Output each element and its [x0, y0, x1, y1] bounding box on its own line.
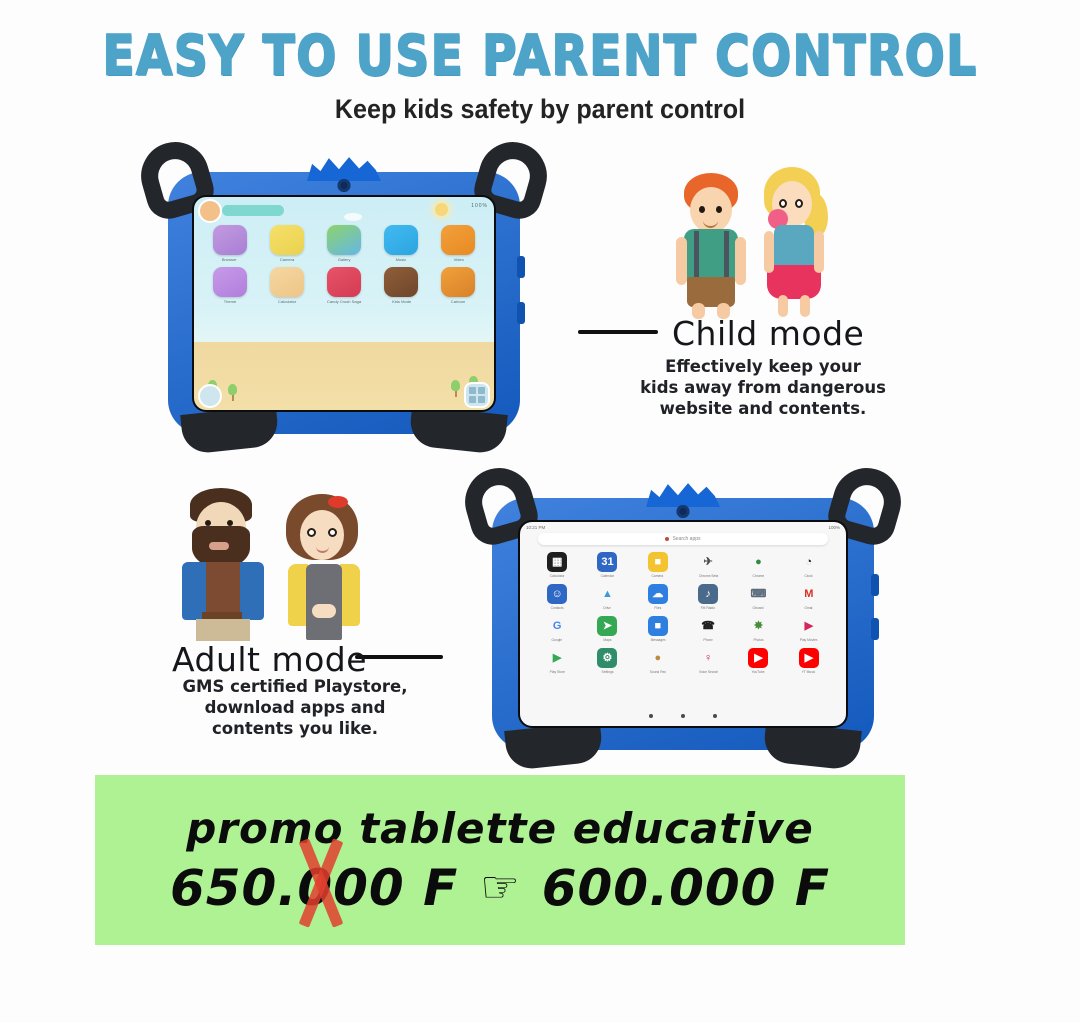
child-mode-desc-line3: website and contents. [608, 398, 918, 419]
android-app-icon: ● [648, 648, 668, 668]
android-app-item[interactable]: ⚙Settings [582, 648, 632, 674]
status-battery: 100% [828, 525, 840, 530]
girl-eye-right [795, 199, 803, 208]
woman-hair-bow [328, 496, 348, 508]
android-app-icon: ☺ [547, 584, 567, 604]
android-app-item[interactable]: ●Chrome [733, 552, 783, 578]
android-app-icon: ◔ [799, 552, 819, 572]
android-app-icon: ■ [648, 552, 668, 572]
handle-foot-left-kids [180, 405, 280, 455]
android-app-icon: ▶ [799, 616, 819, 636]
handle-foot-right-kids [408, 405, 508, 455]
android-app-label: Messages [650, 638, 665, 642]
dino-spikes-kids [302, 155, 386, 181]
kids-app-item[interactable]: Video [432, 225, 485, 262]
android-app-label: Chrome Beta [698, 574, 717, 578]
android-app-icon: ■ [648, 616, 668, 636]
android-app-item[interactable]: ●Sound Rec [633, 648, 683, 674]
android-app-item[interactable]: ▦Calculator [532, 552, 582, 578]
man-mouth [209, 542, 229, 550]
adults-illustration [174, 482, 374, 637]
android-app-item[interactable]: ■Messages [633, 616, 683, 642]
kids-app-icon [384, 267, 418, 297]
android-app-label: Contacts [551, 606, 564, 610]
kids-app-icon [327, 225, 361, 255]
kids-app-label: Video [453, 257, 463, 262]
kids-app-icon [441, 225, 475, 255]
child-mode-connector-line [578, 330, 658, 334]
android-app-label: Files [654, 606, 661, 610]
woman-hands [312, 604, 336, 618]
man-pants [196, 619, 250, 641]
android-app-icon: 31 [597, 552, 617, 572]
new-price: 600.000 F [542, 859, 830, 917]
android-app-icon: ☎ [698, 616, 718, 636]
boy-shirt [684, 229, 738, 281]
kids-app-item[interactable]: Gallery [317, 225, 370, 262]
android-app-label: Google [552, 638, 563, 642]
android-app-item[interactable]: GGoogle [532, 616, 582, 642]
boy-figure [672, 173, 750, 318]
android-app-icon: ✸ [748, 616, 768, 636]
promo-price-row: 650.000 F ☞ 600.000 F [170, 859, 830, 917]
android-app-item[interactable]: ♪FM Radio [683, 584, 733, 610]
kids-tablet: 100% BrowserCameraGalleryMusicVideoTheme… [168, 172, 520, 434]
android-app-icon: ▲ [597, 584, 617, 604]
android-app-label: Chrome [753, 574, 765, 578]
kids-app-label: Camera [280, 257, 294, 262]
android-app-label: Play Store [550, 670, 565, 674]
android-drawer-screen[interactable]: 10:21 PM 100% Search apps ▦Calculator31C… [520, 522, 846, 726]
kids-app-icon [213, 267, 247, 297]
all-apps-button-kids[interactable] [466, 384, 488, 406]
kids-app-item[interactable]: Music [375, 225, 428, 262]
android-app-icon: ⌨ [748, 584, 768, 604]
child-mode-description: Effectively keep your kids away from dan… [608, 356, 918, 419]
android-app-icon: ♪ [698, 584, 718, 604]
android-app-item[interactable]: MGmail [784, 584, 834, 610]
advertisement-page: EASY TO USE PARENT CONTROL Keep kids saf… [0, 0, 1080, 1023]
woman-figure [276, 494, 372, 640]
android-app-item[interactable]: ▶YouTube [733, 648, 783, 674]
kids-app-icon [441, 267, 475, 297]
android-app-label: Calendar [601, 574, 614, 578]
cloud-decoration [344, 213, 362, 221]
android-app-icon: G [547, 616, 567, 636]
man-tshirt [202, 562, 242, 614]
kids-app-item[interactable]: Candy Crush Saga [317, 267, 370, 304]
adult-mode-title: Adult mode [172, 640, 367, 679]
android-app-item[interactable]: ▶Play Store [532, 648, 582, 674]
android-app-label: FM Radio [701, 606, 715, 610]
child-mode-desc-line2: kids away from dangerous [608, 377, 918, 398]
android-app-label: Camera [652, 574, 664, 578]
girl-arm-left [764, 231, 774, 273]
android-app-item[interactable]: ✸Photos [733, 616, 783, 642]
kids-app-label: Cartoon [451, 299, 465, 304]
kids-app-label: Music [396, 257, 407, 262]
android-app-item[interactable]: ☁Files [633, 584, 683, 610]
kids-app-item[interactable]: Cartoon [432, 267, 485, 304]
promo-headline: promo tablette educative [186, 804, 814, 853]
kids-app-item[interactable]: Kids Mode [375, 267, 428, 304]
woman-apron [306, 564, 342, 640]
boy-suspender-left [694, 231, 699, 281]
woman-cardigan-right [340, 564, 360, 626]
android-app-icon: ▶ [748, 648, 768, 668]
boy-shorts [687, 277, 735, 307]
kids-app-icon [213, 225, 247, 255]
android-app-label: YouTube [752, 670, 765, 674]
android-app-item[interactable]: 31Calendar [582, 552, 632, 578]
kids-app-label: Candy Crush Saga [327, 299, 361, 304]
page-subtitle: Keep kids safety by parent control [38, 94, 1042, 125]
android-app-icon: ☁ [648, 584, 668, 604]
android-app-icon: ⚙ [597, 648, 617, 668]
adult-mode-connector-line [355, 655, 443, 659]
android-app-icon: ♀ [698, 648, 718, 668]
boy-eye-right [716, 206, 722, 213]
kids-app-item[interactable]: Browser [203, 225, 256, 262]
girl-eye-left [779, 199, 787, 208]
kids-launcher-screen[interactable]: 100% BrowserCameraGalleryMusicVideoTheme… [194, 197, 494, 410]
android-app-label: Gboard [753, 606, 764, 610]
android-app-item[interactable]: ▶YT Music [784, 648, 834, 674]
handle-foot-right-android [762, 721, 862, 771]
android-tablet: 10:21 PM 100% Search apps ▦Calculator31C… [492, 498, 874, 750]
android-app-label: YT Music [802, 670, 816, 674]
screen-bezel-android: 10:21 PM 100% Search apps ▦Calculator31C… [520, 522, 846, 726]
android-app-label: Calculator [550, 574, 565, 578]
android-app-label: Gmail [805, 606, 814, 610]
kids-app-item[interactable]: Camera [260, 225, 313, 262]
page-indicator[interactable] [520, 714, 846, 718]
kids-app-icon [270, 225, 304, 255]
side-button-upper-kids[interactable] [517, 256, 525, 278]
girl-figure [754, 165, 834, 317]
android-app-item[interactable]: ♀Voice Search [683, 648, 733, 674]
girl-skirt [767, 265, 821, 299]
android-app-label: Sound Rec [650, 670, 666, 674]
side-button-lower-kids[interactable] [517, 302, 525, 324]
search-bar-android[interactable]: Search apps [538, 533, 828, 545]
android-app-item[interactable]: ☺Contacts [532, 584, 582, 610]
android-app-icon: ✈ [698, 552, 718, 572]
boy-suspender-right [724, 231, 729, 281]
android-app-item[interactable]: ⌨Gboard [733, 584, 783, 610]
front-camera-android [677, 505, 690, 518]
boy-arm-left [676, 237, 687, 285]
old-price-text: 650.000 F [170, 859, 458, 917]
woman-cardigan-left [288, 564, 308, 626]
android-app-item[interactable]: ➤Maps [582, 616, 632, 642]
android-app-label: Phone [703, 638, 713, 642]
side-button-upper-android[interactable] [871, 574, 879, 596]
android-app-label: Drive [604, 606, 612, 610]
search-placeholder: Search apps [672, 536, 700, 542]
kids-app-label: Theme [223, 299, 236, 304]
kids-app-label: Browser [222, 257, 237, 262]
android-app-item[interactable]: ▶Play Movies [784, 616, 834, 642]
kids-app-icon [384, 225, 418, 255]
android-app-icon: ● [748, 552, 768, 572]
adult-mode-desc-line3: contents you like. [150, 718, 440, 739]
android-app-label: Settings [602, 670, 614, 674]
child-mode-title: Child mode [672, 314, 864, 353]
android-app-icon: ▦ [547, 552, 567, 572]
kids-app-label: Gallery [338, 257, 351, 262]
android-app-item[interactable]: ☎Phone [683, 616, 733, 642]
man-shirt-right [240, 562, 264, 620]
android-app-item[interactable]: ▲Drive [582, 584, 632, 610]
tree-decoration [451, 380, 460, 396]
adult-mode-desc-line2: download apps and [150, 697, 440, 718]
adult-mode-desc-line1: GMS certified Playstore, [150, 676, 440, 697]
handle-foot-left-android [504, 721, 604, 771]
android-app-item[interactable]: ■Camera [633, 552, 683, 578]
children-illustration [668, 163, 838, 318]
status-bar-kids: 100% [471, 203, 488, 209]
screen-bezel-kids: 100% BrowserCameraGalleryMusicVideoTheme… [194, 197, 494, 410]
woman-eye-left [307, 528, 316, 537]
child-mode-desc-line1: Effectively keep your [608, 356, 918, 377]
girl-arm-right [814, 231, 824, 273]
pointing-right-hand-icon: ☞ [480, 866, 519, 910]
dino-spikes-android [641, 481, 725, 507]
front-camera-kids [338, 179, 351, 192]
android-app-icon: ▶ [799, 648, 819, 668]
android-app-label: Play Movies [800, 638, 818, 642]
status-time: 10:21 PM [526, 525, 545, 530]
kids-app-label: Calculator [278, 299, 296, 304]
android-app-item[interactable]: ✈Chrome Beta [683, 552, 733, 578]
home-button-kids[interactable] [200, 386, 220, 406]
kid-name-pill [222, 205, 284, 216]
android-app-label: Photos [753, 638, 763, 642]
android-app-icon: M [799, 584, 819, 604]
android-app-icon: ➤ [597, 616, 617, 636]
boy-eye-left [699, 206, 705, 213]
android-app-item[interactable]: ◔Clock [784, 552, 834, 578]
tree-decoration [228, 384, 237, 400]
kids-app-item[interactable]: Calculator [260, 267, 313, 304]
kids-app-grid: BrowserCameraGalleryMusicVideoThemeCalcu… [203, 225, 485, 304]
android-app-grid: ▦Calculator31Calendar■Camera✈Chrome Beta… [532, 552, 834, 674]
old-price: 650.000 F [170, 859, 458, 917]
side-button-lower-android[interactable] [871, 618, 879, 640]
promo-banner: promo tablette educative 650.000 F ☞ 600… [95, 775, 905, 945]
kids-app-label: Kids Mode [392, 299, 411, 304]
android-app-label: Clock [805, 574, 813, 578]
android-app-label: Maps [603, 638, 611, 642]
boy-arm-right [735, 237, 746, 285]
kids-app-item[interactable]: Theme [203, 267, 256, 304]
android-app-label: Voice Search [698, 670, 717, 674]
search-icon [665, 537, 669, 541]
sun-decoration [435, 203, 448, 216]
adult-mode-description: GMS certified Playstore, download apps a… [150, 676, 440, 739]
man-figure [174, 488, 274, 638]
kid-avatar[interactable] [200, 201, 220, 221]
android-app-icon: ▶ [547, 648, 567, 668]
page-title: EASY TO USE PARENT CONTROL [0, 24, 1080, 89]
woman-eye-right [328, 528, 337, 537]
status-bar-android: 10:21 PM 100% [526, 524, 840, 530]
kids-app-icon [270, 267, 304, 297]
kids-app-icon [327, 267, 361, 297]
